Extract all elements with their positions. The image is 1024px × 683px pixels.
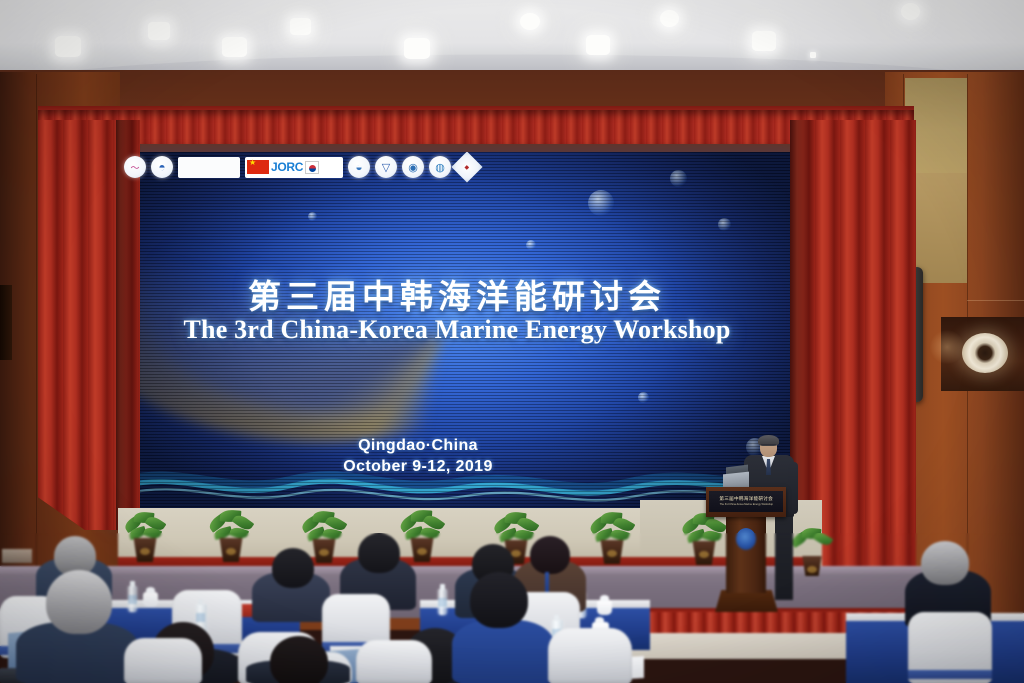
sponsor-logo-6-icon: ▽ xyxy=(375,156,397,178)
plant-pot xyxy=(132,538,158,562)
screen-title-chinese: 第三届中韩海洋能研讨会 xyxy=(118,270,796,318)
audience-chair xyxy=(908,612,992,683)
ceiling-downlight xyxy=(55,36,81,57)
left-wall-plate xyxy=(2,549,32,563)
audience-person-head xyxy=(530,536,570,574)
speaker-glasses-icon xyxy=(761,444,776,449)
sponsor-logo-8-icon: ◍ xyxy=(429,156,451,178)
jorc-wordmark: JORC xyxy=(271,160,303,174)
chair-band xyxy=(908,670,992,679)
china-flag-icon xyxy=(247,160,269,174)
teacup xyxy=(143,592,158,607)
ceiling-downlight xyxy=(901,3,920,20)
wall-panel-seam xyxy=(36,74,37,594)
logo-glyph: ◆ xyxy=(465,164,470,171)
plant-pot xyxy=(311,539,337,563)
water-bottle xyxy=(438,589,447,615)
water-bottle xyxy=(128,586,137,612)
stage-plant xyxy=(398,510,446,562)
audience-person-head xyxy=(470,572,528,628)
podium-sign-chinese: 第三届中韩海洋能研讨会 xyxy=(719,497,773,502)
screen-location-date: Qingdao·China October 9-12, 2019 xyxy=(268,435,568,477)
curtain-valance xyxy=(38,110,914,144)
audience-person-head xyxy=(270,636,328,683)
logo-glyph: ◉ xyxy=(408,161,418,174)
audience-chair xyxy=(356,640,432,683)
plant-pot xyxy=(218,538,244,562)
audience-person-head xyxy=(358,533,400,573)
ceiling-downlight xyxy=(752,31,776,51)
audience-person-head xyxy=(921,541,969,585)
audience-person-head xyxy=(272,548,314,588)
plant-pot xyxy=(599,540,625,564)
sponsor-logo-2-icon: ◓ xyxy=(151,156,173,178)
podium-base xyxy=(715,590,778,612)
conference-hall-photo: 〜 ◓ JORC ◒ ▽ ◉ ◍ ◆ 第三届中韩海洋能研讨会 The 3rd C… xyxy=(0,0,1024,683)
logo-glyph: ▽ xyxy=(382,161,390,174)
stage-plant xyxy=(207,510,255,562)
logo-glyph: ◒ xyxy=(355,160,362,174)
sponsor-logo-3-icon xyxy=(178,157,240,178)
led-backdrop-screen: 〜 ◓ JORC ◒ ▽ ◉ ◍ ◆ 第三届中韩海洋能研讨会 The 3rd C… xyxy=(118,152,796,514)
speaker-arm xyxy=(788,462,798,514)
korea-flag-icon xyxy=(305,161,319,174)
sponsor-logo-strip: 〜 ◓ JORC ◒ ▽ ◉ ◍ ◆ xyxy=(124,156,478,178)
ceiling-downlight xyxy=(660,10,679,27)
audience-chair xyxy=(548,628,632,683)
sponsor-logo-7-icon: ◉ xyxy=(402,156,424,178)
ceiling-downlight xyxy=(222,37,247,57)
sponsor-logo-9-icon: ◆ xyxy=(451,152,482,183)
ceiling-downlight xyxy=(586,35,610,55)
podium-sign-english: The 3rd China-Korea Marine Energy Worksh… xyxy=(719,503,772,506)
teacup xyxy=(597,600,612,615)
logo-glyph: 〜 xyxy=(130,161,139,174)
plant-pot xyxy=(801,556,823,576)
sponsor-logo-1-icon: 〜 xyxy=(124,156,146,178)
speaker-legs xyxy=(775,512,793,600)
stage-plant xyxy=(122,512,168,562)
ceiling-downlight xyxy=(810,52,816,58)
audience-chair xyxy=(124,638,202,683)
podium-sign: 第三届中韩海洋能研讨会 The 3rd China-Korea Marine E… xyxy=(709,491,783,512)
wall-light-glow xyxy=(930,330,964,364)
ceiling-downlight xyxy=(148,22,170,40)
ceiling-downlight xyxy=(290,18,311,35)
ceiling-downlight xyxy=(404,38,430,59)
podium-emblem-icon xyxy=(736,528,756,550)
sponsor-logo-5-icon: ◒ xyxy=(348,156,370,178)
screen-dates: October 9-12, 2019 xyxy=(268,456,568,477)
plant-pot xyxy=(691,541,717,565)
stage-plant xyxy=(790,528,834,576)
sponsor-logo-jorc: JORC xyxy=(245,157,343,178)
stage-plant xyxy=(680,513,728,565)
screen-title-english: The 3rd China-Korea Marine Energy Worksh… xyxy=(118,315,796,345)
left-wall-speaker xyxy=(0,285,12,360)
wall-spotlight xyxy=(962,333,1008,373)
logo-glyph: ◍ xyxy=(435,161,445,174)
wall-panel-seam xyxy=(967,300,1024,301)
podium-column xyxy=(726,515,766,593)
audience-person-head xyxy=(46,570,112,634)
logo-glyph: ◓ xyxy=(158,160,165,174)
screen-location: Qingdao·China xyxy=(268,435,568,456)
plant-pot xyxy=(409,538,435,562)
stage-plant xyxy=(588,512,636,564)
ceiling-downlight xyxy=(520,13,540,30)
audience-person-shoulders xyxy=(452,620,554,683)
